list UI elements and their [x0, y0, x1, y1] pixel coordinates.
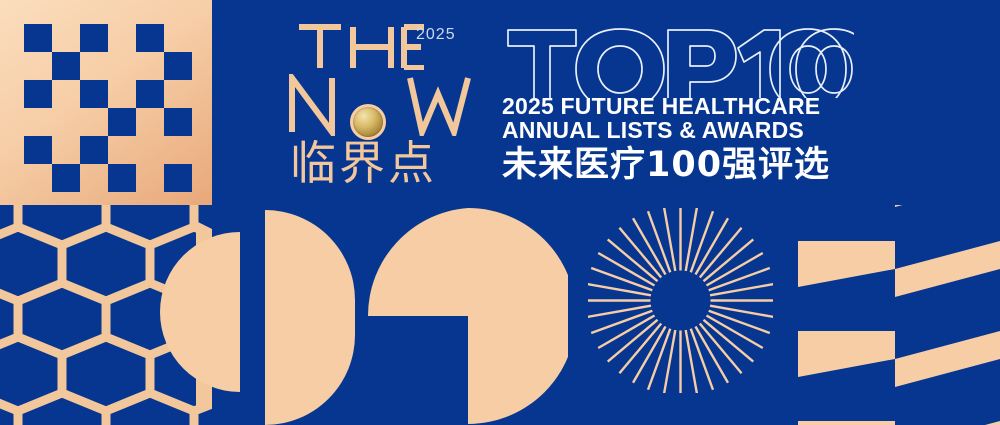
the-now-logo: 2025 临界点 — [288, 22, 488, 182]
checker-cell — [52, 80, 80, 108]
checker-cell — [108, 80, 136, 108]
checker-cell — [164, 164, 192, 192]
checkerboard-pattern-icon — [0, 0, 212, 205]
checkerboard-grid — [24, 24, 192, 192]
checker-cell — [52, 52, 80, 80]
checker-cell — [80, 164, 108, 192]
checker-cell — [80, 52, 108, 80]
half-circle-right-icon — [265, 210, 355, 425]
checker-cell — [24, 108, 52, 136]
checker-cell — [24, 164, 52, 192]
checker-cell — [136, 80, 164, 108]
checker-cell — [164, 108, 192, 136]
top100-title — [502, 24, 852, 94]
checker-cell — [24, 80, 52, 108]
checker-cell — [80, 136, 108, 164]
checker-cell — [52, 136, 80, 164]
checker-cell — [108, 52, 136, 80]
logo-year: 2025 — [416, 26, 456, 44]
headline-chinese-subtitle: 未来医疗100强评选 — [502, 145, 852, 185]
checker-cell — [164, 80, 192, 108]
checker-cell — [24, 52, 52, 80]
sunburst-rays-icon — [588, 208, 773, 393]
checker-cell — [136, 136, 164, 164]
stripes-svg — [790, 205, 1000, 425]
headline-subtitle-line2: ANNUAL LISTS & AWARDS — [502, 118, 852, 142]
checker-cell — [52, 108, 80, 136]
checker-cell — [108, 136, 136, 164]
checker-cell — [136, 108, 164, 136]
checker-cell — [108, 108, 136, 136]
top100-outline-svg — [502, 24, 854, 98]
checker-cell — [136, 164, 164, 192]
checker-cell — [136, 52, 164, 80]
sunburst-svg — [588, 208, 773, 393]
gold-sphere-icon — [350, 104, 386, 140]
checker-cell — [108, 24, 136, 52]
quad-circle-svg — [368, 208, 568, 425]
checker-cell — [52, 24, 80, 52]
checker-cell — [136, 24, 164, 52]
checker-cell — [164, 136, 192, 164]
logo-chinese-name: 临界点 — [290, 140, 437, 186]
banner-root: 2025 临界点 — [0, 0, 1000, 425]
checker-cell — [80, 108, 108, 136]
checker-cell — [24, 24, 52, 52]
checker-cell — [24, 136, 52, 164]
three-quarter-circle-icon — [368, 208, 568, 425]
headline-block: 2025 FUTURE HEALTHCARE ANNUAL LISTS & AW… — [502, 24, 852, 185]
logo-the-text — [296, 22, 426, 70]
checker-cell — [52, 164, 80, 192]
checker-cell — [108, 164, 136, 192]
checker-cell — [164, 52, 192, 80]
checker-cell — [80, 80, 108, 108]
checker-cell — [80, 24, 108, 52]
checker-cell — [164, 24, 192, 52]
diagonal-stripes-icon — [790, 205, 1000, 425]
